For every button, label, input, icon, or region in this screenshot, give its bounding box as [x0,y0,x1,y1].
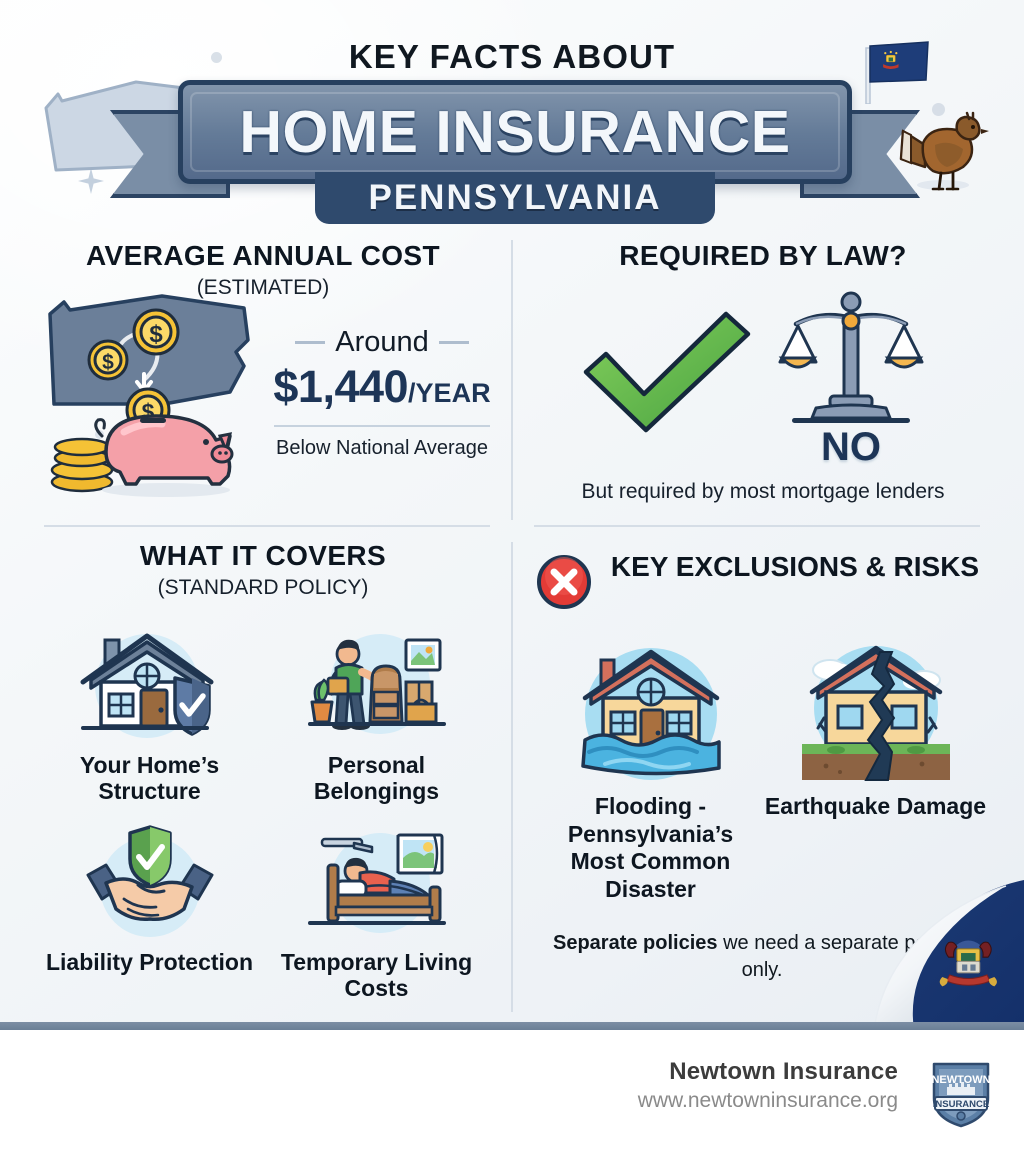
cost-amount-value: $1,440 [273,361,408,412]
handshake-shield-icon [36,825,263,943]
cost-divider [274,425,490,427]
covers-section-title: WHAT IT COVERS [28,540,498,572]
red-x-circle-icon [536,554,592,610]
flooded-house-icon [538,640,763,785]
divider-vertical-bottom [511,542,513,1012]
cost-note: Below National Average [268,437,496,460]
svg-text:$: $ [102,351,114,374]
infographic-canvas: KEY FACTS ABOUT HOME INSURANCE PENNSYLVA… [0,0,1024,1154]
ruffed-grouse-icon [895,105,991,197]
page-curl-pennsylvania-flag [874,880,1024,1030]
exclusions-item-label: Earthquake Damage [763,793,988,821]
footer: Newtown Insurance www.newtowninsurance.o… [0,1030,1024,1154]
cost-around-row: Around [268,326,496,359]
section-average-annual-cost: AVERAGE ANNUAL COST (ESTIMATED) $ $ [28,240,498,520]
section-required-by-law: REQUIRED BY LAW? [524,240,1002,520]
green-checkmark-icon [576,306,756,436]
exclusions-item-earthquake[interactable]: Earthquake Damage [763,640,988,903]
covers-section-subtitle: (STANDARD POLICY) [28,576,498,600]
covers-item-home-structure[interactable]: Your Home’s Structure [36,628,263,805]
divider-vertical-top [511,240,513,520]
svg-text:$: $ [149,321,163,348]
covers-row: Your Home’s Structure [36,628,490,805]
justice-scale-icon [776,290,926,430]
panel-bottom-bar [0,1022,1024,1030]
house-shield-icon [36,628,263,746]
svg-text:INSURANCE: INSURANCE [933,1099,989,1110]
law-section-title: REQUIRED BY LAW? [524,240,1002,272]
cost-section-title: AVERAGE ANNUAL COST [28,240,498,272]
section-what-it-covers: WHAT IT COVERS (STANDARD POLICY) [28,540,498,1020]
footer-text-block: Newtown Insurance www.newtowninsurance.o… [638,1058,898,1113]
person-in-bed-icon [263,825,490,943]
covers-item-label: Your Home’s Structure [36,752,263,805]
exclusions-section-title: KEY EXCLUSIONS & RISKS [600,550,990,583]
infographic-panel: KEY FACTS ABOUT HOME INSURANCE PENNSYLVA… [0,0,1024,1030]
footer-website-url[interactable]: www.newtowninsurance.org [638,1089,898,1113]
cost-figure-block: Around $1,440/YEAR Below National Averag… [268,326,496,460]
law-answer: NO [776,425,926,470]
divider-horizontal-left [44,525,490,527]
cost-amount-unit: /YEAR [408,378,491,408]
ribbon-main-plate: HOME INSURANCE [178,80,852,184]
footer-company-name: Newtown Insurance [638,1058,898,1086]
ribbon-banner: HOME INSURANCE PENNSYLVANIA [110,80,920,220]
person-furniture-boxes-icon [263,628,490,746]
exclusions-note-bold: Separate policies [553,932,718,954]
covers-item-liability-protection[interactable]: Liability Protection [36,825,263,1002]
rule-right [439,341,469,344]
pa-map-piggy-bank-coins-icon: $ $ $ [44,292,274,497]
covers-item-label: Personal Belongings [263,752,490,805]
covers-item-label: Liability Protection [36,949,263,975]
cost-around-label: Around [335,326,429,359]
subtitle-banner: PENNSYLVANIA [315,172,715,224]
exclusions-grid: Flooding - Pennsylvania’s Most Common Di… [538,640,988,903]
covers-item-personal-belongings[interactable]: Personal Belongings [263,628,490,805]
covers-item-label: Temporary Living Costs [263,949,490,1002]
main-title: HOME INSURANCE [183,85,847,179]
covers-grid: Your Home’s Structure [36,628,490,1002]
newtown-insurance-shield-logo: NEWTOWN INSURANCE [922,1054,1000,1132]
divider-horizontal-right [534,525,980,527]
exclusions-item-label: Flooding - Pennsylvania’s Most Common Di… [538,793,763,903]
exclusions-item-flooding[interactable]: Flooding - Pennsylvania’s Most Common Di… [538,640,763,903]
covers-row: Liability Protection [36,825,490,1002]
rule-left [295,341,325,344]
covers-item-temporary-living-costs[interactable]: Temporary Living Costs [263,825,490,1002]
cost-amount-row: $1,440/YEAR [268,361,496,413]
cracked-house-earthquake-icon [763,640,988,785]
law-note: But required by most mortgage lenders [524,480,1002,504]
pennsylvania-flag-icon [860,32,930,104]
